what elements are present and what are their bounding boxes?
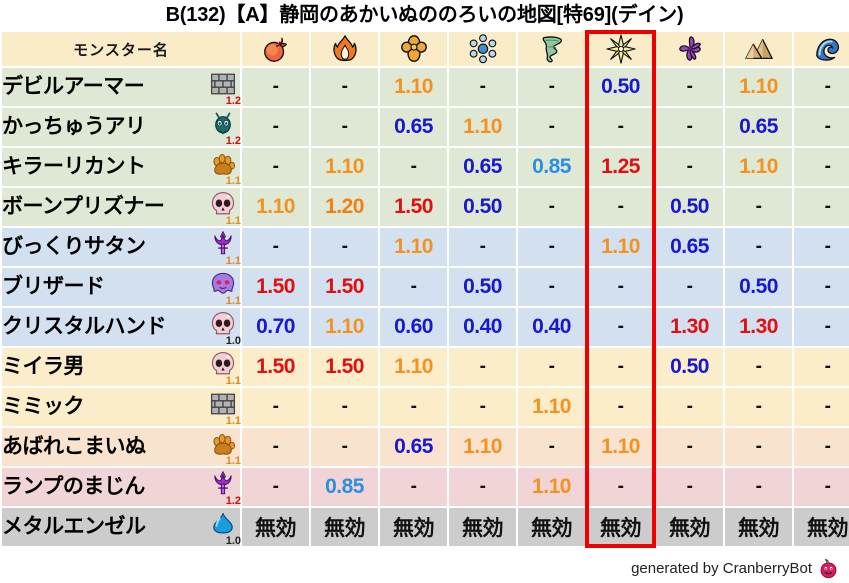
column-header-merazoma[interactable] [794, 32, 849, 66]
monster-name-label: クリスタルハンド [2, 308, 166, 346]
monster-multiplier-badge: 1.2 [226, 96, 241, 107]
lightburst-icon [587, 34, 654, 64]
resistance-cell: 1.50 [311, 348, 378, 386]
monster-multiplier-badge: 1.1 [226, 416, 241, 427]
resistance-cell: 1.10 [311, 148, 378, 186]
resistance-cell: 0.50 [587, 68, 654, 106]
resistance-cell: 1.10 [311, 308, 378, 346]
monster-name-cell[interactable]: ミミック 1.1 [2, 388, 240, 426]
table-head: モンスター名 [2, 32, 849, 66]
ghost-icon: 1.1 [206, 270, 240, 304]
resistance-cell: 無効 [518, 508, 585, 546]
table-row: デビルアーマー 1.2--1.10--0.50-1.10- [2, 68, 849, 106]
header-row: モンスター名 [2, 32, 849, 66]
resistance-cell: 1.10 [380, 348, 447, 386]
resistance-cell: 無効 [380, 508, 447, 546]
resistance-cell: - [518, 108, 585, 146]
monster-name-label: キラーリカント [2, 148, 146, 186]
column-header-merameru[interactable] [242, 32, 309, 66]
resistance-cell: - [518, 428, 585, 466]
resistance-cell: 0.65 [725, 108, 792, 146]
resistance-cell: - [380, 388, 447, 426]
table-row: かっちゅうアリ 1.2--0.651.10---0.65- [2, 108, 849, 146]
resistance-cell: 1.10 [518, 468, 585, 506]
resistance-cell: - [242, 428, 309, 466]
resistance-cell: - [794, 308, 849, 346]
resistance-cell: 0.85 [311, 468, 378, 506]
monster-name-label: ランプのまじん [2, 468, 145, 506]
column-header-dein[interactable] [587, 32, 654, 66]
monster-name-cell[interactable]: キラーリカント 1.1 [2, 148, 240, 186]
resistance-cell: - [449, 348, 516, 386]
monster-name-cell[interactable]: ボーンプリズナー 1.1 [2, 188, 240, 226]
resistance-cell: - [656, 268, 723, 306]
resistance-cell: - [518, 268, 585, 306]
paw-icon: 1.1 [206, 430, 240, 464]
resistance-cell: 1.30 [725, 308, 792, 346]
resistance-cell: - [311, 68, 378, 106]
paw-icon: 1.1 [206, 150, 240, 184]
resistance-cell: 1.10 [449, 428, 516, 466]
resistance-cell: - [311, 228, 378, 266]
monster-multiplier-badge: 1.0 [226, 536, 241, 547]
resistance-cell: 0.50 [449, 188, 516, 226]
resistance-cell: 無効 [794, 508, 849, 546]
resistance-cell: 1.10 [725, 148, 792, 186]
monster-name-cell[interactable]: びっくりサタン 1.1 [2, 228, 240, 266]
resistance-cell: - [311, 108, 378, 146]
footer-text: generated by CranberryBot [631, 560, 812, 577]
resistance-cell: - [656, 428, 723, 466]
resistance-cell: 0.65 [449, 148, 516, 186]
resistance-cell: - [794, 268, 849, 306]
monster-name-label: あばれこまいぬ [2, 428, 146, 466]
resistance-cell: - [656, 468, 723, 506]
resistance-cell: - [587, 388, 654, 426]
resistance-cell: 0.50 [656, 188, 723, 226]
skull-icon: 1.1 [206, 190, 240, 224]
table-row: ランプのまじん 1.2-0.85--1.10---- [2, 468, 849, 506]
resistance-cell: - [725, 348, 792, 386]
resistance-cell: 1.10 [242, 188, 309, 226]
resistance-cell: 0.65 [380, 428, 447, 466]
monster-multiplier-badge: 1.2 [226, 136, 241, 147]
resistance-cell: 1.50 [380, 188, 447, 226]
resistance-cell: 1.20 [311, 188, 378, 226]
resistance-cell: 0.50 [449, 268, 516, 306]
monster-name-label: びっくりサタン [2, 228, 146, 266]
resistance-cell: - [794, 468, 849, 506]
skull-icon: 1.0 [206, 310, 240, 344]
cranberry-bot-icon [818, 558, 839, 579]
resistance-cell: - [518, 228, 585, 266]
resistance-cell: - [794, 428, 849, 466]
column-header-monster-name: モンスター名 [2, 32, 240, 66]
resistance-cell: 0.50 [656, 348, 723, 386]
resistance-cell: 0.60 [380, 308, 447, 346]
monster-multiplier-badge: 1.0 [226, 336, 241, 347]
monster-multiplier-badge: 1.1 [226, 256, 241, 267]
resistance-cell: 0.50 [725, 268, 792, 306]
resistance-cell: - [587, 188, 654, 226]
resistance-cell: - [518, 348, 585, 386]
column-header-bagi[interactable] [518, 32, 585, 66]
resistance-table: モンスター名 [0, 30, 849, 548]
table-row: クリスタルハンド 1.00.701.100.600.400.40-1.301.3… [2, 308, 849, 346]
resistance-cell: - [242, 468, 309, 506]
resistance-cell: - [380, 468, 447, 506]
resistance-cell: - [449, 228, 516, 266]
monster-name-cell[interactable]: デビルアーマー 1.2 [2, 68, 240, 106]
resistance-cell: 0.85 [518, 148, 585, 186]
trident-icon: 1.2 [206, 470, 240, 504]
table-row: キラーリカント 1.1-1.10-0.650.851.25-1.10- [2, 148, 849, 186]
column-header-io[interactable] [380, 32, 447, 66]
resistance-cell: 無効 [656, 508, 723, 546]
table-row: メタルエンゼル 1.0無効無効無効無効無効無効無効無効無効 [2, 508, 849, 546]
monster-name-cell[interactable]: あばれこまいぬ 1.1 [2, 428, 240, 466]
resistance-cell: 1.25 [587, 148, 654, 186]
resistance-cell: 0.40 [518, 308, 585, 346]
resistance-cell: - [725, 228, 792, 266]
resistance-cell: 0.70 [242, 308, 309, 346]
monster-name-label: ブリザード [2, 268, 105, 306]
resistance-cell: 無効 [449, 508, 516, 546]
table-row: ミミック 1.1----1.10---- [2, 388, 849, 426]
resistance-cell: - [587, 308, 654, 346]
resistance-cell: - [794, 348, 849, 386]
monster-multiplier-badge: 1.1 [226, 296, 241, 307]
resistance-cell: - [449, 68, 516, 106]
monster-name-cell[interactable]: クリスタルハンド 1.0 [2, 308, 240, 346]
table-row: ミイラ男 1.11.501.501.10---0.50-- [2, 348, 849, 386]
resistance-cell: - [656, 388, 723, 426]
resistance-cell: 1.10 [587, 228, 654, 266]
monster-name-cell[interactable]: ランプのまじん 1.2 [2, 468, 240, 506]
resistance-cell: - [794, 148, 849, 186]
resistance-cell: - [449, 468, 516, 506]
bricks-icon: 1.2 [206, 70, 240, 104]
resistance-cell: 0.65 [380, 108, 447, 146]
resistance-cell: - [380, 268, 447, 306]
resistance-cell: - [656, 148, 723, 186]
resistance-cell: - [725, 188, 792, 226]
footer-credit: generated by CranberryBot [631, 558, 839, 579]
resistance-cell: - [587, 268, 654, 306]
monster-name-label: メタルエンゼル [2, 508, 146, 546]
resistance-cell: - [587, 468, 654, 506]
trident-icon: 1.1 [206, 230, 240, 264]
resistance-cell: 無効 [311, 508, 378, 546]
monster-name-label: ボーンプリズナー [2, 188, 164, 226]
monster-multiplier-badge: 1.1 [226, 216, 241, 227]
slime-icon: 1.0 [206, 510, 240, 544]
tornado-icon [518, 34, 585, 64]
table-row: ブリザード 1.11.501.50-0.50---0.50- [2, 268, 849, 306]
page-title: B(132)【A】静岡のあかいぬののろいの地図[特69](デイン) [0, 0, 849, 30]
resistance-cell: 1.50 [242, 268, 309, 306]
monster-name-cell[interactable]: かっちゅうアリ 1.2 [2, 108, 240, 146]
resistance-cell: 無効 [587, 508, 654, 546]
monster-multiplier-badge: 1.1 [226, 176, 241, 187]
resistance-cell: 1.10 [380, 228, 447, 266]
resistance-cell: 1.10 [449, 108, 516, 146]
resistance-cell: - [725, 388, 792, 426]
resistance-cell: - [242, 68, 309, 106]
monster-multiplier-badge: 1.1 [226, 376, 241, 387]
resistance-cell: - [242, 228, 309, 266]
resistance-cell: - [794, 108, 849, 146]
monster-name-cell[interactable]: ブリザード 1.1 [2, 268, 240, 306]
resistance-cell: - [794, 228, 849, 266]
table-body: デビルアーマー 1.2--1.10--0.50-1.10-かっちゅうアリ 1.2… [2, 68, 849, 546]
resistance-cell: - [725, 468, 792, 506]
resistance-cell: - [242, 108, 309, 146]
resistance-cell: - [587, 348, 654, 386]
mountain-icon [725, 34, 792, 64]
fireball-icon [242, 34, 309, 64]
resistance-cell: - [587, 108, 654, 146]
resistance-cell: 1.10 [725, 68, 792, 106]
table-row: あばれこまいぬ 1.1--0.651.10-1.10--- [2, 428, 849, 466]
column-header-jiba[interactable] [725, 32, 792, 66]
darkspiral-icon [656, 34, 723, 64]
resistance-table-wrapper: モンスター名 [0, 30, 849, 548]
table-row: ボーンプリズナー 1.11.101.201.500.50--0.50-- [2, 188, 849, 226]
explosion-icon [380, 34, 447, 64]
monster-name-label: かっちゅうアリ [2, 108, 146, 146]
column-header-dorumaa[interactable] [656, 32, 723, 66]
column-header-gira[interactable] [311, 32, 378, 66]
resistance-cell: - [656, 68, 723, 106]
resistance-cell: 0.65 [656, 228, 723, 266]
resistance-cell: - [794, 188, 849, 226]
snowflake-icon [449, 34, 516, 64]
flame-icon [311, 34, 378, 64]
resistance-cell: - [656, 108, 723, 146]
resistance-cell: 1.10 [518, 388, 585, 426]
monster-name-label: ミミック [2, 388, 84, 426]
resistance-cell: - [242, 148, 309, 186]
resistance-cell: 無効 [725, 508, 792, 546]
resistance-cell: - [311, 388, 378, 426]
monster-name-cell[interactable]: ミイラ男 1.1 [2, 348, 240, 386]
monster-multiplier-badge: 1.2 [226, 496, 241, 507]
wave-icon [794, 34, 849, 64]
insect-icon: 1.2 [206, 110, 240, 144]
resistance-cell: 1.50 [242, 348, 309, 386]
resistance-cell: 1.10 [380, 68, 447, 106]
resistance-cell: 1.30 [656, 308, 723, 346]
resistance-cell: - [380, 148, 447, 186]
resistance-cell: - [449, 388, 516, 426]
resistance-cell: - [794, 68, 849, 106]
column-header-hyado[interactable] [449, 32, 516, 66]
resistance-cell: - [725, 428, 792, 466]
resistance-cell: - [518, 188, 585, 226]
monster-name-label: ミイラ男 [2, 348, 84, 386]
monster-name-cell[interactable]: メタルエンゼル 1.0 [2, 508, 240, 546]
resistance-cell: - [242, 388, 309, 426]
resistance-cell: 0.40 [449, 308, 516, 346]
table-row: びっくりサタン 1.1--1.10--1.100.65-- [2, 228, 849, 266]
resistance-cell: - [794, 388, 849, 426]
resistance-cell: - [311, 428, 378, 466]
resistance-cell: 無効 [242, 508, 309, 546]
resistance-cell: 1.10 [587, 428, 654, 466]
skull-icon: 1.1 [206, 350, 240, 384]
monster-name-label: デビルアーマー [2, 68, 144, 106]
resistance-cell: 1.50 [311, 268, 378, 306]
bricks-icon: 1.1 [206, 390, 240, 424]
monster-multiplier-badge: 1.1 [226, 456, 241, 467]
resistance-cell: - [518, 68, 585, 106]
